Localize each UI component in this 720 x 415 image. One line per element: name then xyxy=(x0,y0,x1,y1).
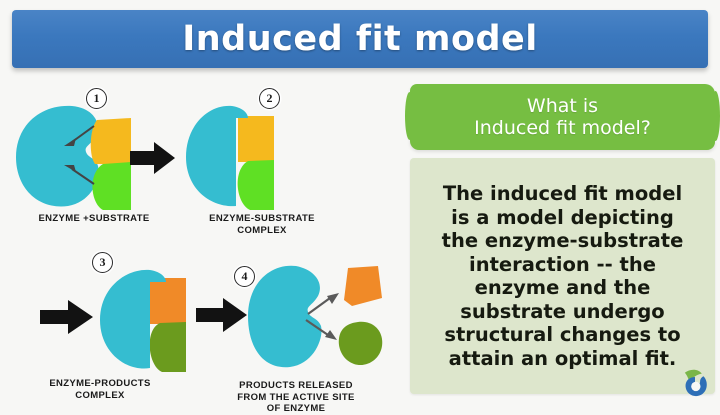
step-number-badge-1: 1 xyxy=(86,88,107,109)
step-3-illustration xyxy=(10,266,190,374)
step-number-badge-4: 4 xyxy=(234,266,255,287)
diagram-step-3: 3 ENZYME-PRODUCTS COMPLEX xyxy=(10,252,190,400)
banner-line-1: What is xyxy=(527,95,598,117)
step-4-label: PRODUCTS RELEASED FROM THE ACTIVE SITE O… xyxy=(198,380,394,415)
step-number-badge-2: 2 xyxy=(259,88,280,109)
diagram-step-1: 1 xyxy=(10,88,170,228)
step-2-illustration xyxy=(182,102,342,212)
release-arrow-top xyxy=(306,292,342,318)
released-product-orange xyxy=(338,264,384,310)
banner-line-2: Induced fit model? xyxy=(474,117,651,139)
diagram-step-4: 4 xyxy=(196,252,396,404)
enzyme-shape-3 xyxy=(94,266,170,374)
info-panel-banner: What is Induced fit model? xyxy=(410,84,715,150)
transition-arrow-1-to-2 xyxy=(130,140,176,176)
release-arrow-bottom xyxy=(304,316,340,342)
definition-text: The induced fit model is a model depicti… xyxy=(434,182,692,370)
diagram-step-2: 2 ENZYME-SUBSTRATE COMPLEX xyxy=(182,88,342,228)
page-title-bar: Induced fit model xyxy=(12,10,708,68)
transition-arrow-2-to-3 xyxy=(40,298,94,336)
step-4-illustration xyxy=(196,262,396,372)
step-number-badge-3: 3 xyxy=(92,252,113,273)
enzyme-shape-2 xyxy=(182,102,252,212)
binding-pointer-arrow-bottom xyxy=(62,164,96,188)
diagram-panel: 1 xyxy=(0,80,408,404)
info-panel-body-card: The induced fit model is a model depicti… xyxy=(410,158,715,394)
step-3-label: ENZYME-PRODUCTS COMPLEX xyxy=(10,378,190,401)
binding-pointer-arrow-top xyxy=(62,124,96,148)
transition-arrow-3-to-4 xyxy=(196,296,248,334)
released-product-green xyxy=(336,320,386,370)
page-title: Induced fit model xyxy=(182,19,538,59)
step-1-illustration xyxy=(10,102,170,212)
step-1-label: ENZYME +SUBSTRATE xyxy=(8,213,180,225)
brand-logo-icon xyxy=(678,366,712,400)
info-panel: What is Induced fit model? The induced f… xyxy=(410,84,715,396)
step-2-label: ENZYME-SUBSTRATE COMPLEX xyxy=(176,213,348,236)
